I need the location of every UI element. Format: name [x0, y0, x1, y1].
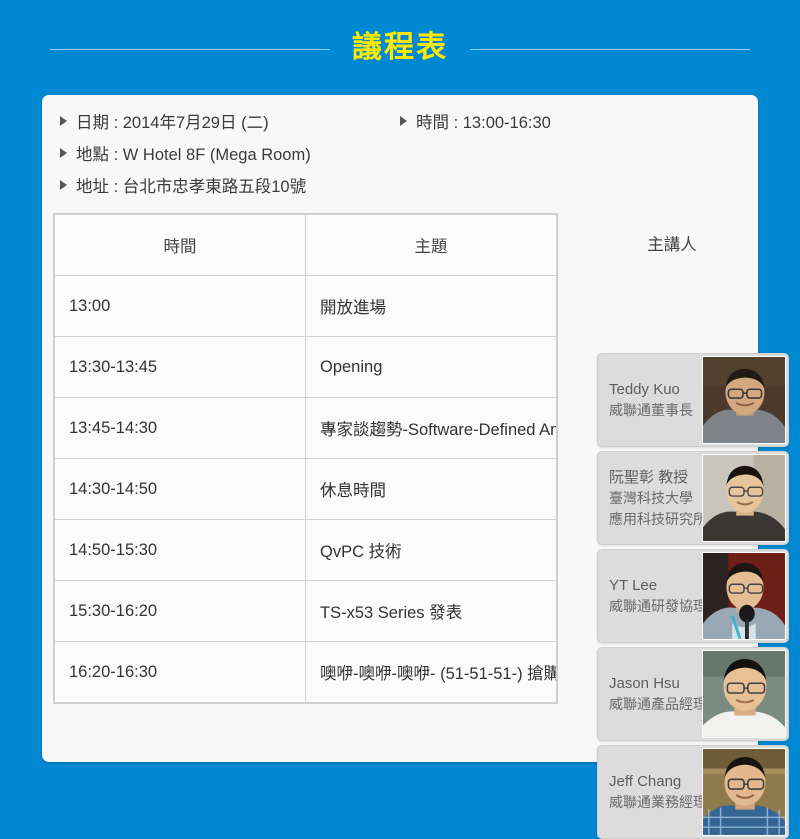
cell-topic: 開放進場 — [306, 276, 557, 337]
event-info-row: 地點 : W Hotel 8F (Mega Room) — [60, 141, 750, 173]
table-row: 13:30-13:45 Opening — [55, 337, 557, 398]
table-row: 15:30-16:20 TS-x53 Series 發表 — [55, 581, 557, 642]
speaker-card[interactable]: 阮聖彰 教授 臺灣科技大學 應用科技研究所 — [597, 451, 789, 545]
speaker-org-line: 威聯通研發協理 — [609, 596, 698, 617]
speaker-photo — [702, 552, 786, 640]
cell-time: 14:50-15:30 — [55, 520, 306, 581]
speaker-name: Teddy Kuo — [609, 379, 698, 400]
table-row: 13:00 開放進場 — [55, 276, 557, 337]
speaker-name: Jeff Chang — [609, 771, 698, 792]
event-info-venue-text: 地點 : W Hotel 8F (Mega Room) — [76, 141, 311, 165]
event-info-date-text: 日期 : 2014年7月29日 (二) — [76, 109, 269, 133]
event-info-row: 地址 : 台北市忠孝東路五段10號 — [60, 173, 750, 205]
speaker-photo — [702, 748, 786, 836]
speaker-org-line: 應用科技研究所 — [609, 509, 698, 530]
speaker-photo — [702, 356, 786, 444]
speaker-name: YT Lee — [609, 575, 698, 596]
column-header-topic: 主題 — [306, 215, 557, 276]
triangle-bullet-icon — [60, 148, 67, 158]
triangle-bullet-icon — [60, 116, 67, 126]
cell-topic: Opening — [306, 337, 557, 398]
column-header-speaker: 主講人 — [597, 213, 747, 273]
event-info-date: 日期 : 2014年7月29日 (二) — [60, 109, 400, 133]
speaker-name: Jason Hsu — [609, 673, 698, 694]
triangle-bullet-icon — [400, 116, 407, 126]
cell-topic: 噢咿-噢咿-噢咿- (51-51-51-) 搶購活動 — [306, 642, 557, 703]
speaker-info: Teddy Kuo 威聯通董事長 — [598, 379, 702, 421]
table-header-row: 時間 主題 — [55, 215, 557, 276]
speaker-org-line: 威聯通產品經理 — [609, 694, 698, 715]
triangle-bullet-icon — [60, 180, 67, 190]
table-row: 16:20-16:30 噢咿-噢咿-噢咿- (51-51-51-) 搶購活動 — [55, 642, 557, 703]
event-info-row: 日期 : 2014年7月29日 (二) 時間 : 13:00-16:30 — [60, 109, 750, 141]
schedule-table-wrap: 時間 主題 13:00 開放進場 13:30-13:45 Opening 13:… — [53, 213, 558, 704]
cell-time: 14:30-14:50 — [55, 459, 306, 520]
cell-time: 16:20-16:30 — [55, 642, 306, 703]
speaker-card[interactable]: Jeff Chang 威聯通業務經理 — [597, 745, 789, 839]
speaker-photo — [702, 650, 786, 738]
event-info-address: 地址 : 台北市忠孝東路五段10號 — [60, 173, 400, 197]
speaker-info: 阮聖彰 教授 臺灣科技大學 應用科技研究所 — [598, 467, 702, 530]
speaker-name: 阮聖彰 教授 — [609, 467, 698, 488]
cell-topic: 專家談趨勢-Software-Defined Anything — [306, 398, 557, 459]
event-info-time-text: 時間 : 13:00-16:30 — [416, 109, 551, 133]
speaker-card[interactable]: Jason Hsu 威聯通產品經理 — [597, 647, 789, 741]
table-row: 14:50-15:30 QvPC 技術 — [55, 520, 557, 581]
page-title: 議程表 — [330, 33, 470, 63]
event-info-venue: 地點 : W Hotel 8F (Mega Room) — [60, 141, 400, 165]
speaker-org-line: 威聯通業務經理 — [609, 792, 698, 813]
speaker-photo — [702, 454, 786, 542]
cell-topic: TS-x53 Series 發表 — [306, 581, 557, 642]
cell-time: 15:30-16:20 — [55, 581, 306, 642]
speaker-card[interactable]: YT Lee 威聯通研發協理 — [597, 549, 789, 643]
speaker-card[interactable]: Teddy Kuo 威聯通董事長 — [597, 353, 789, 447]
cell-time: 13:30-13:45 — [55, 337, 306, 398]
schedule-table-body: 13:00 開放進場 13:30-13:45 Opening 13:45-14:… — [55, 276, 557, 703]
table-row: 14:30-14:50 休息時間 — [55, 459, 557, 520]
speaker-info: Jeff Chang 威聯通業務經理 — [598, 771, 702, 813]
speaker-org-line: 臺灣科技大學 — [609, 488, 698, 509]
event-info-address-text: 地址 : 台北市忠孝東路五段10號 — [76, 173, 306, 197]
title-rule-right — [470, 49, 750, 50]
speaker-org-line: 威聯通董事長 — [609, 400, 698, 421]
cell-time: 13:00 — [55, 276, 306, 337]
event-info-time: 時間 : 13:00-16:30 — [400, 109, 551, 133]
event-info-list: 日期 : 2014年7月29日 (二) 時間 : 13:00-16:30 地點 … — [60, 109, 750, 205]
schedule-table: 時間 主題 13:00 開放進場 13:30-13:45 Opening 13:… — [54, 214, 557, 703]
title-rule-left — [50, 49, 330, 50]
cell-topic: QvPC 技術 — [306, 520, 557, 581]
agenda-panel: 日期 : 2014年7月29日 (二) 時間 : 13:00-16:30 地點 … — [42, 95, 758, 762]
cell-time: 13:45-14:30 — [55, 398, 306, 459]
table-row: 13:45-14:30 專家談趨勢-Software-Defined Anyth… — [55, 398, 557, 459]
cell-topic: 休息時間 — [306, 459, 557, 520]
speaker-info: Jason Hsu 威聯通產品經理 — [598, 673, 702, 715]
page-title-banner: 議程表 — [0, 0, 800, 95]
speaker-info: YT Lee 威聯通研發協理 — [598, 575, 702, 617]
column-header-time: 時間 — [55, 215, 306, 276]
